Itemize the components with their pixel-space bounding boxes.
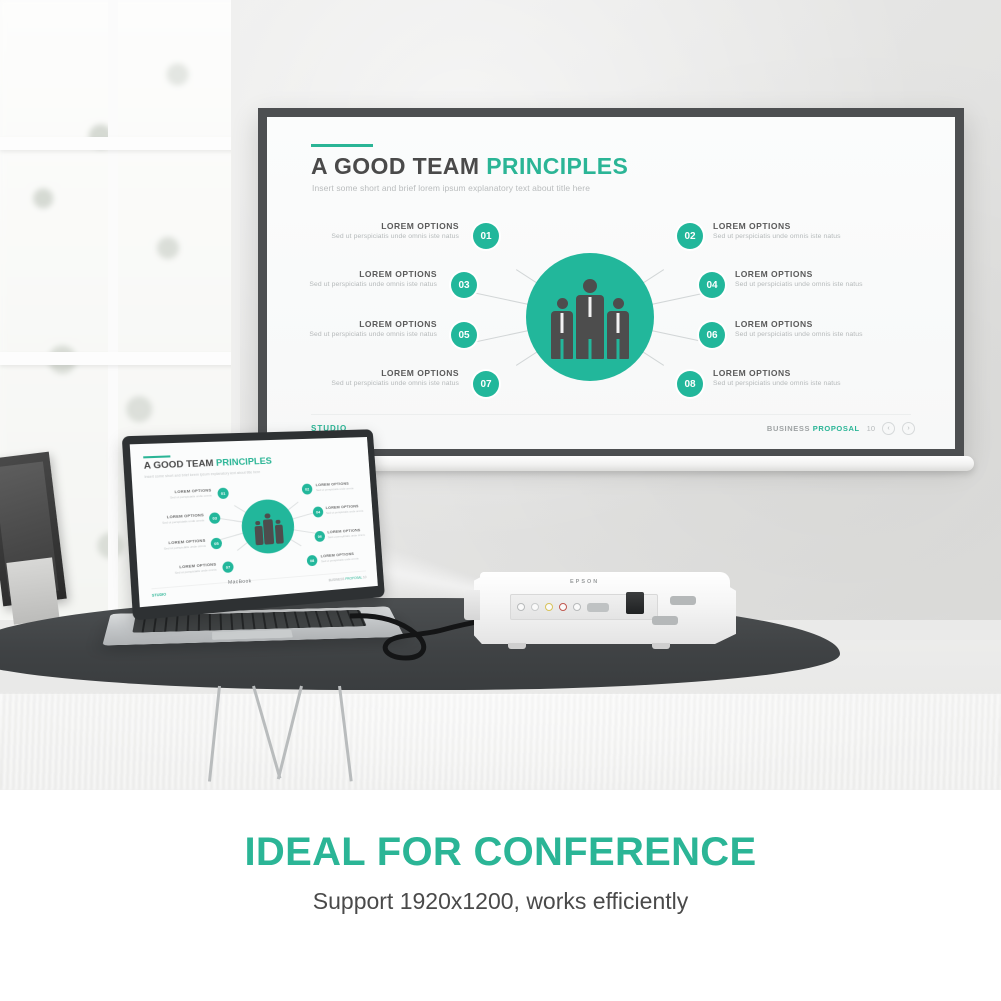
option-text-03: LOREM OPTIONS Sed ut perspiciatis unde o… xyxy=(279,269,437,288)
laptop-title-rule xyxy=(143,455,170,458)
option-text-07: LOREM OPTIONS Sed ut perspiciatis unde o… xyxy=(301,368,459,387)
option-heading: LOREM OPTIONS xyxy=(735,319,893,329)
video-port-icon[interactable] xyxy=(531,603,539,611)
option-desc: Sed ut perspiciatis unde omnis iste natu… xyxy=(713,380,871,387)
option-node-04[interactable]: 04 xyxy=(699,272,725,298)
projector: EPSON xyxy=(474,572,736,644)
option-node-01[interactable]: 01 xyxy=(473,223,499,249)
laptop-option-node-02[interactable]: 02 xyxy=(302,483,313,494)
rug-texture xyxy=(0,694,1001,790)
picture-frame-stand xyxy=(6,557,59,624)
laptop-option-text-03: LOREM OPTIONS Sed ut perspiciatis unde o… xyxy=(139,512,204,526)
person-icon xyxy=(274,519,283,544)
laptop-option-node-08[interactable]: 08 xyxy=(307,555,318,567)
window-mullion-horizontal xyxy=(0,352,240,365)
presentation-slide: A GOOD TEAM PRINCIPLES Insert some short… xyxy=(267,117,955,449)
option-desc: Sed ut perspiciatis unde omnis iste natu… xyxy=(301,233,459,240)
laptop-title-main: A GOOD TEAM xyxy=(143,458,213,472)
room-photo: A GOOD TEAM PRINCIPLES Insert some short… xyxy=(0,0,1001,790)
caption-subheadline: Support 1920x1200, works efficiently xyxy=(0,888,1001,915)
laptop-doc-label-business: BUSINESS xyxy=(328,577,344,582)
laptop-option-text-07: LOREM OPTIONS Sed ut perspiciatis unde o… xyxy=(152,561,217,576)
laptop-title-accent: PRINCIPLES xyxy=(216,456,273,469)
doc-label-business: BUSINESS xyxy=(767,424,810,433)
person-icon xyxy=(254,520,263,545)
laptop-screen: A GOOD TEAM PRINCIPLES Insert some short… xyxy=(130,437,378,607)
laptop-trackpad[interactable] xyxy=(212,630,293,640)
person-icon xyxy=(262,513,274,545)
laptop-option-node-03[interactable]: 03 xyxy=(209,512,221,524)
person-icon xyxy=(576,279,604,359)
option-text-02: LOREM OPTIONS Sed ut perspiciatis unde o… xyxy=(713,221,871,240)
laptop-option-text-05: LOREM OPTIONS Sed ut perspiciatis unde o… xyxy=(141,538,206,553)
laptop-footer-logo: STUDIO xyxy=(152,592,167,597)
option-desc: Sed ut perspiciatis unde omnis iste natu… xyxy=(301,380,459,387)
option-heading: LOREM OPTIONS xyxy=(279,269,437,279)
dsub-port-icon[interactable] xyxy=(652,616,678,625)
person-icon xyxy=(551,298,573,359)
option-text-06: LOREM OPTIONS Sed ut perspiciatis unde o… xyxy=(735,319,893,338)
composite-video-port-icon[interactable] xyxy=(545,603,553,611)
option-node-03[interactable]: 03 xyxy=(451,272,477,298)
audio-port-icon[interactable] xyxy=(517,603,525,611)
option-text-04: LOREM OPTIONS Sed ut perspiciatis unde o… xyxy=(735,269,893,288)
product-scene: A GOOD TEAM PRINCIPLES Insert some short… xyxy=(0,0,1001,1001)
option-text-05: LOREM OPTIONS Sed ut perspiciatis unde o… xyxy=(279,319,437,338)
option-heading: LOREM OPTIONS xyxy=(279,319,437,329)
slide-page-number: 10 xyxy=(867,424,875,433)
laptop-option-text-02: LOREM OPTIONS Sed ut perspiciatis unde o… xyxy=(316,480,373,492)
laptop-team-hub-circle xyxy=(240,498,296,555)
window-mullion-horizontal xyxy=(0,137,240,150)
laptop-option-node-01[interactable]: 01 xyxy=(217,488,229,500)
laptop-option-text-08: LOREM OPTIONS Sed ut perspiciatis unde o… xyxy=(321,549,378,563)
vga-port-icon[interactable] xyxy=(587,603,609,612)
laptop-option-node-06[interactable]: 06 xyxy=(314,531,325,542)
option-node-05[interactable]: 05 xyxy=(451,322,477,348)
option-desc: Sed ut perspiciatis unde omnis iste natu… xyxy=(735,281,893,288)
caption-headline: IDEAL FOR CONFERENCE xyxy=(0,830,1001,875)
option-desc: Sed ut perspiciatis unde omnis iste natu… xyxy=(279,281,437,288)
slide-footer-right: BUSINESS PROPOSAL 10 ‹ › xyxy=(767,422,915,435)
marketing-caption: IDEAL FOR CONFERENCE Support 1920x1200, … xyxy=(0,790,1001,1001)
option-text-01: LOREM OPTIONS Sed ut perspiciatis unde o… xyxy=(301,221,459,240)
laptop-option-text-04: LOREM OPTIONS Sed ut perspiciatis unde o… xyxy=(326,502,378,515)
laptop-option-text-06: LOREM OPTIONS Sed ut perspiciatis unde o… xyxy=(327,526,378,539)
area-rug xyxy=(0,694,1001,790)
projector-foot xyxy=(508,643,526,649)
option-heading: LOREM OPTIONS xyxy=(713,221,871,231)
laptop-option-node-05[interactable]: 05 xyxy=(210,538,222,550)
laptop-slide-subtitle: Insert some short and brief lorem ipsum … xyxy=(144,470,260,479)
slide-subtitle: Insert some short and brief lorem ipsum … xyxy=(312,183,590,193)
prev-slide-icon[interactable]: ‹ xyxy=(882,422,895,435)
laptop-footer-right: BUSINESS PROPOSAL 10 xyxy=(328,575,366,582)
slide-footer-doc-label: BUSINESS PROPOSAL xyxy=(767,424,860,433)
laptop-option-node-04[interactable]: 04 xyxy=(313,506,324,517)
option-heading: LOREM OPTIONS xyxy=(713,368,871,378)
laptop-people-group-icon xyxy=(253,512,284,554)
person-icon xyxy=(607,298,629,359)
option-text-08: LOREM OPTIONS Sed ut perspiciatis unde o… xyxy=(713,368,871,387)
projector-foot xyxy=(652,643,670,649)
cable-plug xyxy=(626,592,644,614)
option-node-08[interactable]: 08 xyxy=(677,371,703,397)
laptop-lid: A GOOD TEAM PRINCIPLES Insert some short… xyxy=(122,429,385,620)
projector-lens xyxy=(464,590,480,620)
projector-top-surface xyxy=(480,572,730,589)
option-node-06[interactable]: 06 xyxy=(699,322,725,348)
doc-label-proposal: PROPOSAL xyxy=(813,424,860,433)
option-desc: Sed ut perspiciatis unde omnis iste natu… xyxy=(279,331,437,338)
laptop-option-text-01: LOREM OPTIONS Sed ut perspiciatis unde o… xyxy=(147,487,211,500)
option-heading: LOREM OPTIONS xyxy=(301,221,459,231)
slide-title: A GOOD TEAM PRINCIPLES xyxy=(311,153,628,180)
dsub-port-icon[interactable] xyxy=(670,596,696,605)
option-node-07[interactable]: 07 xyxy=(473,371,499,397)
slide-title-accent: PRINCIPLES xyxy=(486,153,628,179)
title-rule xyxy=(311,144,373,147)
option-heading: LOREM OPTIONS xyxy=(735,269,893,279)
laptop-page-number: 10 xyxy=(363,575,367,579)
slide-title-main: A GOOD TEAM xyxy=(311,153,479,179)
option-desc: Sed ut perspiciatis unde omnis iste natu… xyxy=(713,233,871,240)
projection-screen: A GOOD TEAM PRINCIPLES Insert some short… xyxy=(258,108,964,458)
audio-left-port-icon[interactable] xyxy=(573,603,581,611)
laptop-doc-label-proposal: PROPOSAL xyxy=(345,576,362,581)
projector-brand-label: EPSON xyxy=(570,579,599,585)
option-desc: Sed ut perspiciatis unde omnis iste natu… xyxy=(735,331,893,338)
next-slide-icon[interactable]: › xyxy=(902,422,915,435)
people-group-icon xyxy=(551,279,629,381)
audio-right-port-icon[interactable] xyxy=(559,603,567,611)
option-heading: LOREM OPTIONS xyxy=(301,368,459,378)
footer-divider xyxy=(311,414,911,415)
team-hub-circle xyxy=(526,253,654,381)
screen-frame: A GOOD TEAM PRINCIPLES Insert some short… xyxy=(258,108,964,458)
laptop-option-node-07[interactable]: 07 xyxy=(222,561,234,573)
option-node-02[interactable]: 02 xyxy=(677,223,703,249)
